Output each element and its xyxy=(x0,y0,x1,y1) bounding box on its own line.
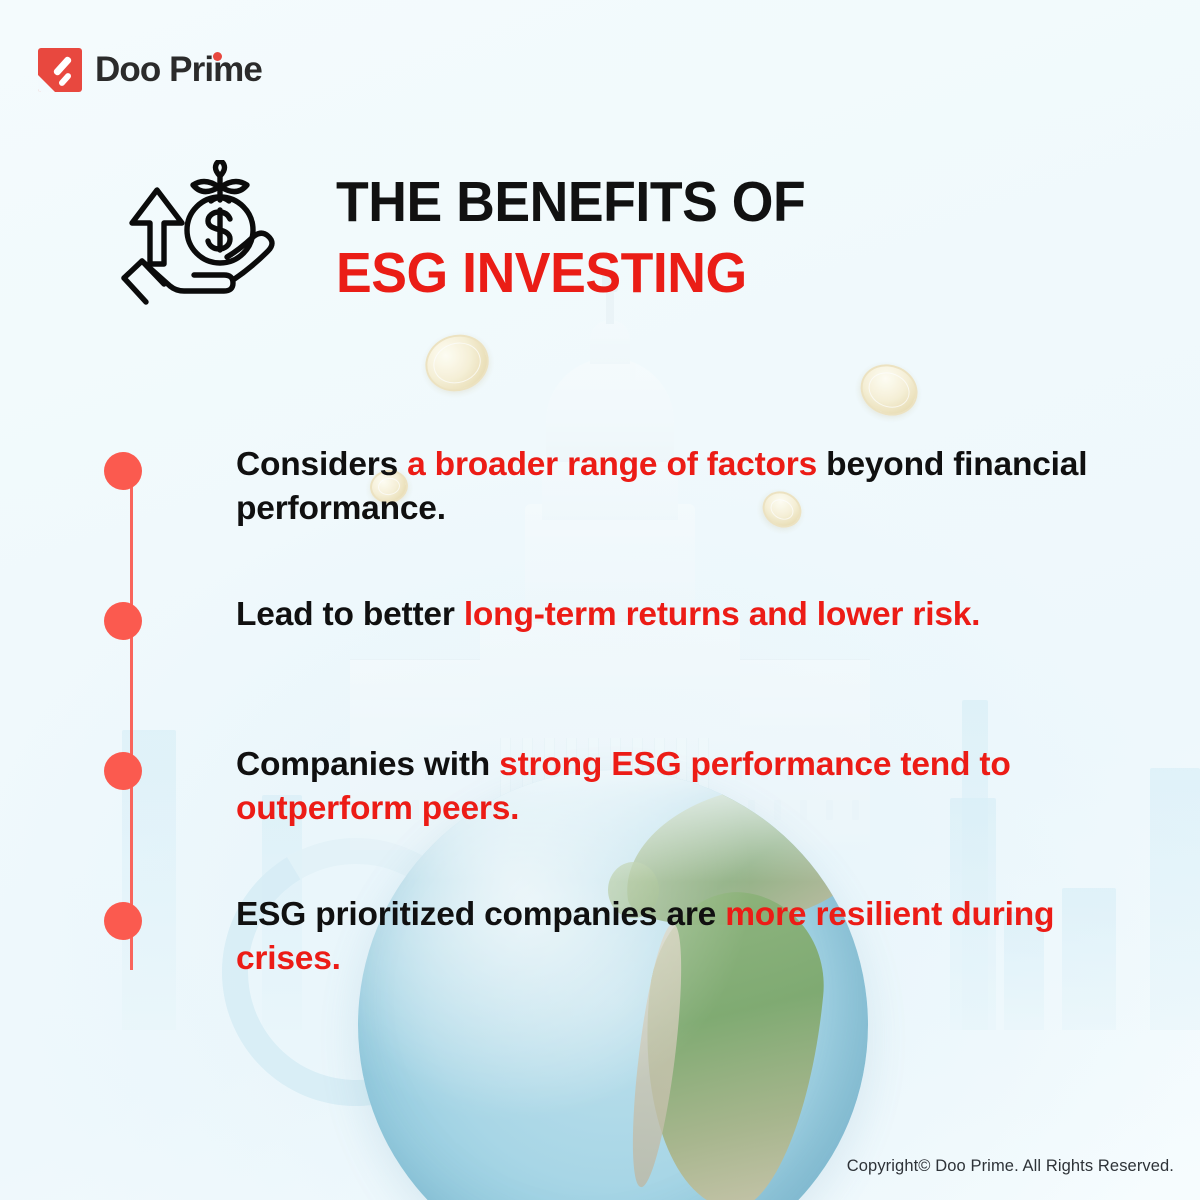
gold-coin-1-icon xyxy=(418,326,496,399)
benefit-text: Considers a broader range of factors bey… xyxy=(236,443,1096,530)
benefit-item: Considers a broader range of factors bey… xyxy=(104,440,1114,560)
brand-logo[interactable]: Doo Prime xyxy=(38,48,262,92)
benefit-text: ESG prioritized companies are more resil… xyxy=(236,893,1096,980)
title-block: THE BENEFITS OF ESG INVESTING xyxy=(336,160,835,304)
benefit-text-plain: Considers xyxy=(236,446,407,483)
logo-accent-dot-icon xyxy=(213,52,222,61)
timeline-dot-icon xyxy=(104,752,142,790)
copyright-notice: Copyright© Doo Prime. All Rights Reserve… xyxy=(847,1157,1174,1176)
benefit-text: Companies with strong ESG performance te… xyxy=(236,743,1096,830)
doo-prime-logo-mark-icon xyxy=(38,48,82,92)
infographic-canvas: Doo Prime xyxy=(0,0,1200,1200)
benefits-timeline: Considers a broader range of factors bey… xyxy=(104,440,1114,1010)
benefit-text-plain: ESG prioritized companies are xyxy=(236,896,725,933)
benefit-text-highlight: a broader range of factors xyxy=(407,446,817,483)
brand-name-text: Doo Prime xyxy=(95,50,262,89)
benefit-item: Companies with strong ESG performance te… xyxy=(104,740,1114,860)
timeline-dot-icon xyxy=(104,602,142,640)
header: THE BENEFITS OF ESG INVESTING xyxy=(112,160,835,310)
benefit-text-plain: Companies with xyxy=(236,746,499,783)
page-title-line-2: ESG INVESTING xyxy=(336,243,805,303)
timeline-dot-icon xyxy=(104,902,142,940)
benefit-text: Lead to better long-term returns and low… xyxy=(236,593,980,637)
benefit-item: Lead to better long-term returns and low… xyxy=(104,590,1114,710)
benefit-item: ESG prioritized companies are more resil… xyxy=(104,890,1114,1010)
benefit-text-plain: Lead to better xyxy=(236,596,464,633)
hand-holding-money-bag-growth-icon xyxy=(112,160,290,310)
brand-name: Doo Prime xyxy=(95,50,262,90)
page-title-line-1: THE BENEFITS OF xyxy=(336,172,805,232)
timeline-dot-icon xyxy=(104,452,142,490)
background-bar xyxy=(1150,768,1200,1030)
benefit-text-highlight: long-term returns and lower risk. xyxy=(464,596,980,633)
gold-coin-2-icon xyxy=(853,356,926,424)
